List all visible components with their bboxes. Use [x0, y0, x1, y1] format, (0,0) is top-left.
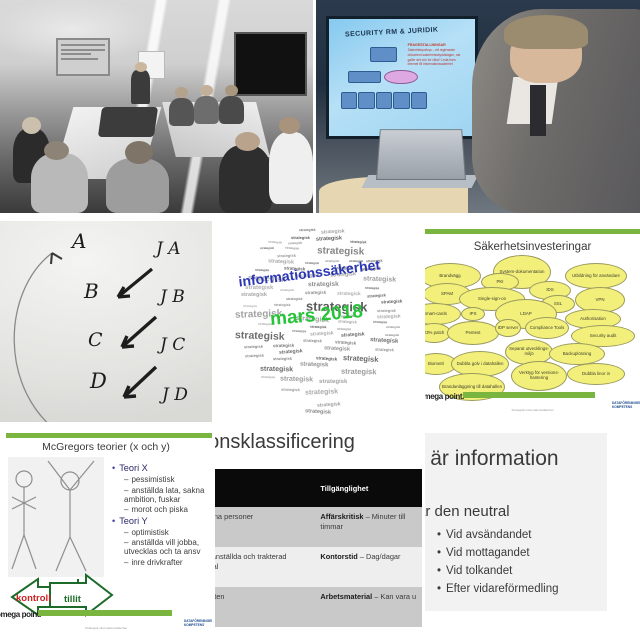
wordcloud-word: strategisk: [281, 387, 300, 392]
table-cell-availability: Kontorstid – Dag/dagar: [315, 547, 422, 587]
projected-slide: SECURITY RM & JURIDIK FRAGESTALLNINGAR S…: [329, 19, 475, 136]
meeting-room-scene: [0, 0, 313, 213]
speaker-scene: SECURITY RM & JURIDIK FRAGESTALLNINGAR S…: [316, 0, 640, 213]
speaker-tie: [530, 85, 546, 136]
table-cell-availability: Affärskritisk – Minuter till timmar: [315, 507, 422, 547]
list-item: •Vid tolkandet: [437, 565, 559, 577]
invest-ellipse-label: Smart-cards: [425, 312, 447, 317]
slide-leaf: [376, 92, 393, 109]
wordcloud-word: strategisk: [386, 325, 400, 329]
invest-ellipse: Dubbla linor in: [567, 363, 625, 385]
invest-ellipse-label: Dubbla linor in: [582, 372, 610, 377]
whiteboard-surface: A B C D J A J B J C J D: [0, 221, 212, 422]
wordcloud-word: strategisk: [285, 246, 299, 251]
photo-whiteboard: A B C D J A J B J C J D: [0, 221, 212, 422]
invest-slide-frame: Säkerhetsinvesteringar Brandvägg System-…: [425, 221, 640, 422]
invest-ellipse-label: 23% patch: [425, 331, 444, 336]
whiteboard-label-ja: J A: [156, 239, 181, 259]
participant: [169, 98, 194, 126]
table-center-dark: [98, 107, 159, 137]
logo-omegapoint: omega point.: [0, 611, 41, 618]
vadar-slide-subtitle: är den neutral: [425, 503, 510, 520]
table-row: amngivna personer Affärskritisk – Minute…: [215, 507, 422, 547]
table-cell-confidentiality: mtliga anställda och trakterad personal: [215, 547, 315, 587]
arrow-right-label: tillit: [64, 594, 82, 605]
wordcloud-word: strategisk: [291, 235, 310, 240]
wordcloud-word: strategisk: [365, 285, 379, 290]
whiteboard-label-jd: J D: [162, 385, 188, 405]
whiteboard-label-d: D: [90, 369, 107, 393]
whiteboard-label-b: B: [84, 279, 99, 303]
invest-ellipse-label: SSL: [554, 302, 562, 307]
invest-ellipse-label: Backuplösning: [563, 352, 592, 357]
wordcloud-word: strategisk: [377, 313, 401, 320]
slide-leaf: [411, 92, 428, 109]
projected-slide-note-body: Sakerhetspolicys – ett reglerande dokume…: [408, 48, 461, 66]
wordcloud-word: strategisk: [268, 239, 282, 244]
bullet-dot: •: [112, 463, 115, 473]
wordcloud-word: strategisk: [316, 235, 342, 242]
participant-head: [225, 85, 238, 96]
invest-top-accent-bar: [425, 229, 640, 234]
invest-ellipse-label: IPS: [469, 312, 476, 317]
photo-meeting-room: [0, 0, 313, 213]
wordcloud-word: strategisk: [268, 258, 294, 265]
wordcloud-word: strategisk: [273, 356, 292, 361]
invest-ellipse: Verktyg för versions-hantering: [511, 361, 567, 391]
invest-bottom-accent-bar: [463, 392, 595, 398]
participant-head: [44, 141, 69, 160]
list-item: •Efter vidareförmedling: [437, 583, 559, 595]
invest-ellipse-label: PKI: [496, 280, 503, 285]
invest-ellipse-label: Pentest: [466, 331, 481, 336]
wordcloud-word: strategisk: [305, 389, 338, 397]
laptop-screen: [376, 129, 466, 180]
wordcloud-word: strategisk: [370, 337, 399, 345]
invest-ellipse: Pentest: [447, 321, 499, 345]
invest-ellipse: IDP server: [495, 319, 521, 337]
table-cell-confidentiality: lmänheten: [215, 587, 315, 627]
mcgregor-group-heading: •Teori X: [112, 463, 212, 473]
participant: [194, 96, 219, 124]
wordcloud-word: strategisk: [350, 239, 367, 244]
projection-screen: [56, 38, 110, 76]
invest-ellipse-label: IDP server: [498, 326, 519, 331]
speaker-hair: [504, 15, 588, 49]
arrow-left-label: kontroll: [16, 593, 51, 604]
slide-security-investments: Säkerhetsinvesteringar Brandvägg System-…: [425, 221, 640, 422]
invest-ellipse-label: Separat utvecklings-miljö: [507, 347, 551, 357]
list-item: •Vid mottagandet: [437, 547, 559, 559]
bullet-dot: •: [437, 565, 446, 577]
wordcloud-word: strategisk: [381, 298, 402, 304]
invest-ellipse: Backuplösning: [549, 343, 605, 365]
slide-box-business-rm: [348, 71, 381, 84]
participant-head: [125, 141, 153, 164]
invest-ellipse-label: Verktyg för versions-hantering: [513, 371, 565, 381]
table-row: lmänheten Arbetsmaterial – Kan vara u: [215, 587, 422, 627]
vadar-bullet-list: •Vid avsändandet •Vid mottagandet •Vid t…: [437, 529, 559, 601]
projected-slide-title: SECURITY RM & JURIDIK: [345, 26, 439, 38]
wall-display: [234, 32, 307, 96]
invest-ellipse-label: IDS: [546, 288, 553, 293]
wordcloud-word: strategisk: [317, 402, 341, 410]
wordcloud-word: strategisk: [299, 228, 316, 232]
table-row: mtliga anställda och trakterad personal …: [215, 547, 422, 587]
klass-slide-title: ationsklassificering: [215, 431, 355, 454]
table-cell-availability: Arbetsmaterial – Kan vara u: [315, 587, 422, 627]
wordcloud-word: strategisk: [277, 253, 296, 258]
mcgregor-sub-point: –morot och piska: [124, 505, 212, 514]
wordcloud-word: strategisk: [245, 353, 264, 359]
wordcloud-word: strategisk: [362, 275, 395, 283]
participant: [219, 96, 244, 124]
invest-ellipse-label: Biometri: [428, 362, 444, 367]
mcgregor-sub-point: –anställda lata, sakna ambition, fuskar: [124, 486, 212, 504]
bullet-dot: •: [437, 547, 446, 559]
table-column-header: alitet: [215, 469, 315, 507]
participant: [219, 145, 272, 213]
invest-ellipse: IPS: [461, 307, 485, 321]
wordcloud-word: strategisk: [341, 367, 377, 377]
photo-speaker: SECURITY RM & JURIDIK FRAGESTALLNINGAR S…: [316, 0, 640, 213]
bullet-dot: •: [437, 583, 446, 595]
wordcloud-word: strategisk: [375, 347, 394, 353]
wordcloud-word: strategisk: [243, 304, 257, 308]
wordcloud-word: strategisk: [367, 293, 386, 299]
invest-ellipse-label: Dubbla golv i datahallen: [457, 362, 504, 367]
mcgregor-bottom-accent-bar: [38, 610, 172, 616]
vadar-slide-title: ad är information: [425, 447, 559, 471]
bullet-dot: •: [437, 529, 446, 541]
mcgregor-slide-frame: McGregors teorier (x och y): [0, 425, 212, 640]
invest-ellipse-label: Utbildning för användare: [572, 274, 620, 279]
participant-head: [175, 87, 188, 98]
invest-ellipse: Smart-cards: [425, 303, 461, 325]
slide-mcgregor: McGregors teorier (x och y): [0, 425, 212, 640]
whiteboard-label-a: A: [72, 229, 86, 253]
list-item: •Vid avsändandet: [437, 529, 559, 541]
slide-leaf: [341, 92, 358, 109]
table-column-header: Tillgänglighet: [315, 469, 422, 507]
participant-head: [200, 85, 213, 96]
wordcloud-word: strategisk: [287, 241, 301, 246]
wordcloud-word: strategisk: [235, 329, 285, 343]
presenter: [131, 70, 150, 104]
participant: [106, 158, 169, 213]
wordcloud-word: strategisk: [317, 245, 365, 257]
invest-ellipse-label: Brandvägg: [439, 274, 460, 279]
logo-omegapoint: omega point.: [425, 393, 464, 400]
invest-ellipse-label: Compliance Tools: [530, 326, 565, 331]
invest-ellipse: Utbildning för användare: [565, 263, 627, 289]
invest-ellipse-label: Security audit: [590, 334, 617, 339]
table-cell-confidentiality: amngivna personer: [215, 507, 315, 547]
mcgregor-bullet-list: •Teori X –pessimistisk –anställda lata, …: [112, 463, 212, 568]
slide-pill-security-rm: [384, 70, 418, 85]
stick-figures: [8, 457, 104, 577]
wordcloud-bulb: strategiskstrategiskstrategiskstrategisk…: [224, 227, 414, 417]
slide-wordcloud: strategiskstrategiskstrategiskstrategisk…: [215, 221, 422, 422]
invest-slide-title: Säkerhetsinvesteringar: [425, 241, 640, 253]
wordcloud-word: strategisk: [385, 333, 399, 337]
mcgregor-sub-point: –optimistisk: [124, 528, 212, 537]
participant: [31, 153, 87, 213]
wordcloud-word: strategisk: [373, 320, 387, 325]
invest-ellipse-label: Authorisation: [580, 317, 606, 322]
participant-head: [22, 117, 41, 134]
wordcloud-word: strategisk: [279, 375, 312, 383]
invest-ellipse-label: Brandanläggning till datahallen: [442, 385, 502, 390]
mcgregor-sub-point: –inre drivkrafter: [124, 558, 212, 567]
projected-slide-note: FRAGESTALLNINGAR Sakerhetspolicys – ett …: [408, 43, 463, 68]
wordcloud-word: strategisk: [305, 408, 331, 416]
whiteboard-label-jb: J B: [160, 287, 185, 307]
invest-ellipse-label: VPN: [595, 298, 604, 303]
participant-head: [235, 132, 260, 151]
participant: [269, 132, 313, 204]
mcgregor-slide-footer: Strategisk informationssäkerhet: [0, 626, 212, 630]
wordcloud-word: strategisk: [260, 365, 293, 373]
invest-ellipse-label: SPAM: [441, 292, 453, 297]
mcgregor-sub-point: –pessimistisk: [124, 475, 212, 484]
wordcloud-word: strategisk: [244, 343, 263, 349]
slide-leaf: [393, 92, 410, 109]
whiteboard-label-c: C: [88, 329, 103, 351]
wordcloud-word: strategisk: [321, 228, 345, 235]
slide-leaf: [358, 92, 375, 109]
wordcloud-word: strategisk: [377, 308, 396, 313]
stick-figure-drawing: [8, 457, 104, 577]
wordcloud-word: strategisk: [319, 379, 347, 385]
invest-ellipse-label: LDAP: [520, 312, 531, 317]
invest-ellipse-label: Single-sign-on: [478, 297, 506, 302]
invest-ellipse: Compliance Tools: [525, 317, 569, 339]
mcgregor-sub-point: –anställda vill jobba, utvecklas och ta …: [124, 538, 212, 556]
table-header-row: alitet Tillgänglighet: [215, 469, 422, 507]
bullet-dot: •: [112, 516, 115, 526]
slide-box-rm: [370, 47, 397, 62]
slide-what-is-information: ad är information är den neutral •Vid av…: [425, 425, 640, 640]
image-collage: SECURITY RM & JURIDIK FRAGESTALLNINGAR S…: [0, 0, 640, 640]
mcgregor-top-accent-bar: [6, 433, 212, 438]
wordcloud-word: strategisk: [343, 353, 379, 364]
invest-slide-footer: Strategisk informationssäkerhet: [425, 408, 640, 412]
wordcloud-word: strategisk: [241, 292, 267, 298]
wordcloud-word: strategisk: [260, 246, 274, 250]
whiteboard-label-jc: J C: [160, 335, 185, 355]
wordcloud-word: strategisk: [261, 374, 275, 379]
mcgregor-group-heading: •Teori Y: [112, 516, 212, 526]
mcgregor-slide-title: McGregors teorier (x och y): [0, 441, 212, 453]
klass-table: alitet Tillgänglighet amngivna personer …: [215, 469, 422, 627]
slide-information-classification: ationsklassificering alitet Tillgängligh…: [215, 425, 422, 640]
